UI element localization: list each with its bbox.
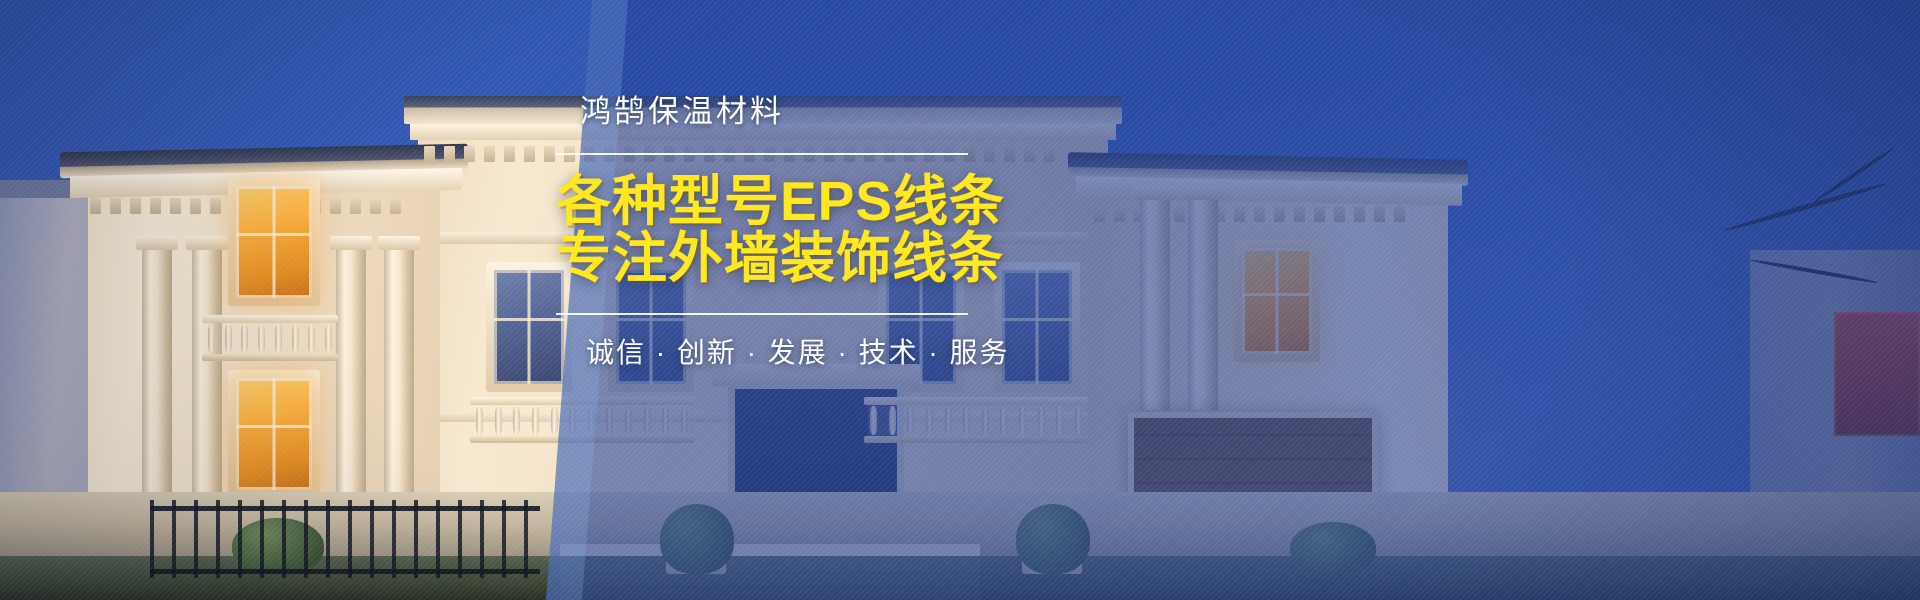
shrub [1016,504,1090,574]
shrub [660,504,734,574]
tree-branch [1723,181,1888,233]
banner-copy-block: 鸿鹄保温材料 各种型号EPS线条 专注外墙装饰线条 诚信 · 创新 · 发展 ·… [556,96,1016,367]
headline-line-2: 专注外墙装饰线条 [556,230,1016,287]
headline-line-1: 各种型号EPS线条 [556,173,1016,230]
divider-rule-bottom [556,313,968,315]
divider-rule-top [556,153,968,155]
balcony-balustrade [206,322,334,356]
lit-window [236,378,312,490]
villa-column [1140,198,1170,410]
iron-fence [150,500,540,578]
brand-name: 鸿鹄保温材料 [580,96,1016,127]
lit-window [1242,248,1312,354]
balcony-balustrade [868,404,1084,438]
red-panel-object [1834,312,1920,436]
shrub [1290,522,1376,574]
hero-banner: 鸿鹄保温材料 各种型号EPS线条 专注外墙装饰线条 诚信 · 创新 · 发展 ·… [0,0,1920,600]
tagline: 诚信 · 创新 · 发展 · 技术 · 服务 [586,339,1016,367]
window [494,270,564,384]
balcony-balustrade [474,404,690,438]
lit-window [236,186,312,298]
headline-group: 各种型号EPS线条 专注外墙装饰线条 [556,173,1016,287]
villa-column [1188,198,1218,410]
